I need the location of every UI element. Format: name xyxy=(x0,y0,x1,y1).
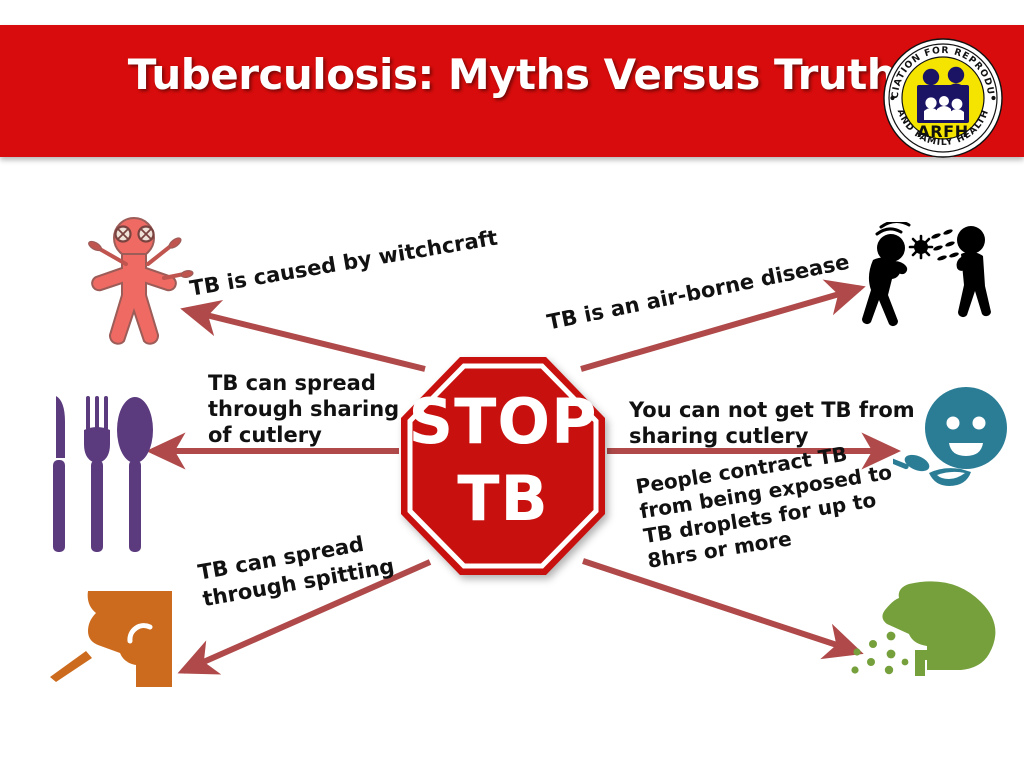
stop-label: STOP xyxy=(399,391,607,453)
caption-cutlery-myth: TB can spread through sharing of cutlery xyxy=(208,370,399,448)
arrow-witchcraft xyxy=(186,310,425,369)
voodoo-doll-icon xyxy=(68,212,200,360)
coughing-people-icon xyxy=(843,222,998,342)
sneezing-head-icon xyxy=(843,578,1011,688)
arrow-droplets xyxy=(583,561,858,652)
tb-label: TB xyxy=(399,468,607,530)
spitting-head-icon xyxy=(28,583,190,695)
stop-tb-sign[interactable]: STOP TB xyxy=(399,355,607,577)
cutlery-icon xyxy=(42,388,154,556)
